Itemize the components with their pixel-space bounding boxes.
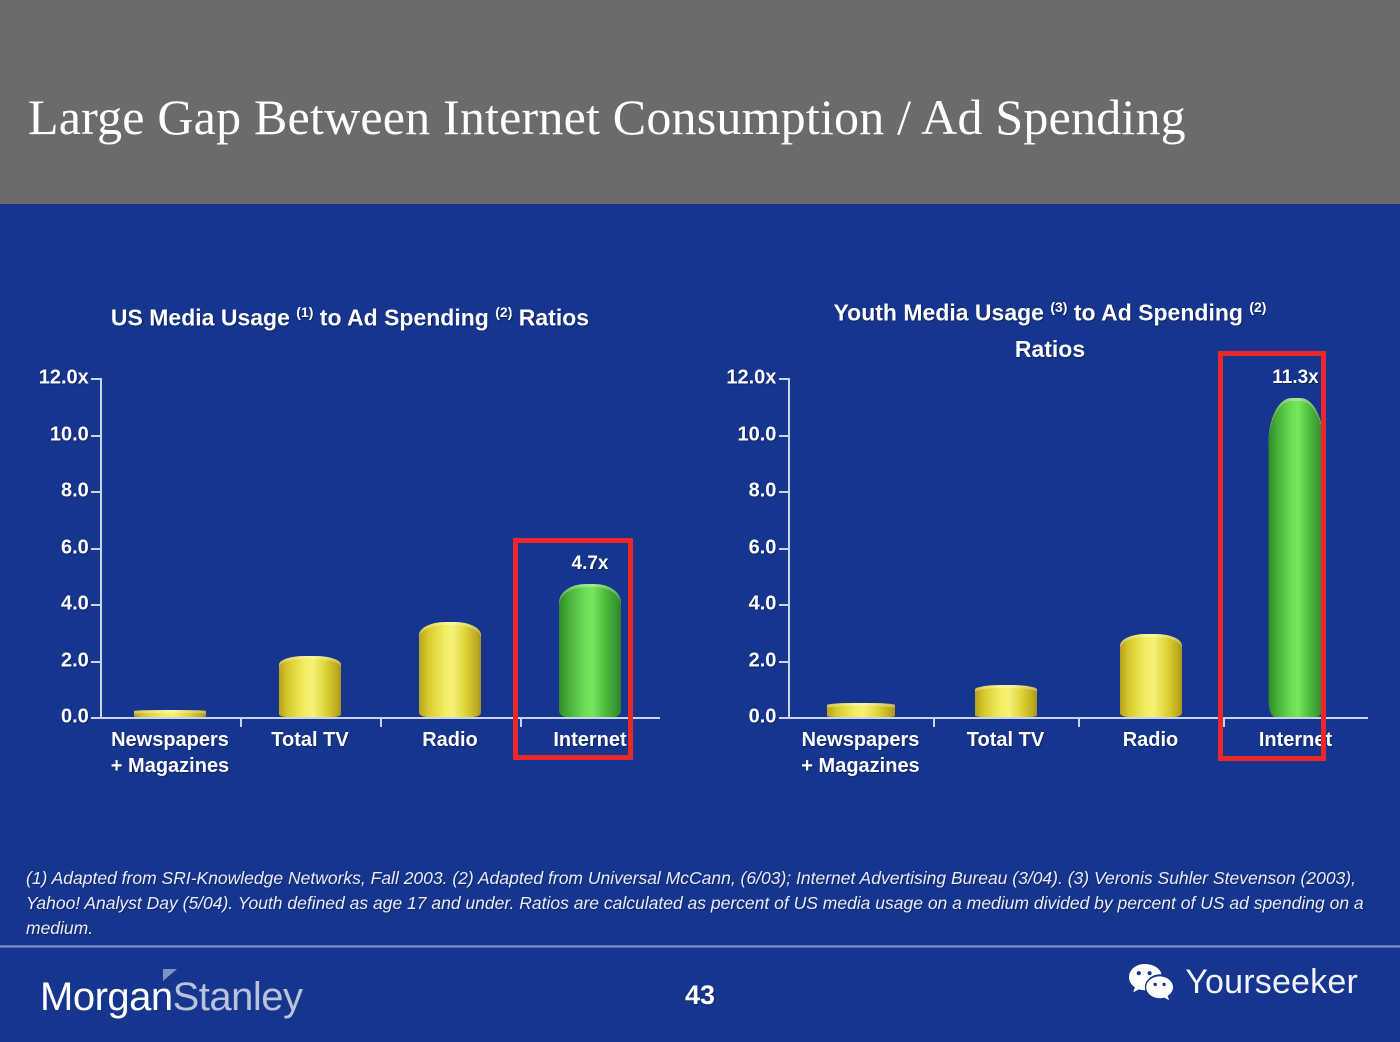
footnote: (1) Adapted from SRI-Knowledge Networks,… (26, 866, 1374, 941)
y-tick-label: 8.0 (61, 480, 89, 503)
bar-group-total-tv[interactable]: Total TV (933, 378, 1078, 717)
bar-total-tv[interactable] (975, 685, 1037, 718)
x-axis-label-line-1: Internet (1259, 727, 1332, 753)
x-tick (240, 717, 242, 727)
x-axis-label-line-1: Total TV (967, 727, 1044, 753)
y-tick (779, 717, 789, 719)
bar-group-radio[interactable]: Radio (1078, 378, 1223, 717)
chart-title-sup-1: (1) (296, 304, 313, 320)
y-tick-label: 6.0 (749, 536, 777, 559)
y-tick-label: 12.0x (726, 367, 776, 390)
x-tick (380, 717, 382, 727)
x-axis-label-internet: Internet (553, 727, 626, 753)
chart-title-sup-1: (3) (1050, 299, 1067, 315)
chart-title-part-2: to Ad Spending (1074, 300, 1243, 326)
bar-newspapers-magazines[interactable] (827, 703, 895, 717)
y-tick-label: 10.0 (50, 423, 89, 446)
y-tick-label: 2.0 (61, 649, 89, 672)
chart-title-us-media-usage: US Media Usage (1) to Ad Spending (2) Ra… (30, 294, 670, 336)
y-tick-label: 6.0 (61, 536, 89, 559)
y-tick-label: 10.0 (737, 423, 776, 446)
bar-internet[interactable] (559, 584, 621, 717)
chart-title-part-1: Youth Media Usage (834, 300, 1044, 326)
y-tick-label: 8.0 (749, 480, 777, 503)
bar-newspapers-magazines[interactable] (134, 710, 206, 717)
bar-group-internet[interactable]: 11.3x Internet (1223, 378, 1368, 717)
x-axis-label-line-2: + Magazines (801, 753, 919, 779)
watermark: Yourseeker (1127, 962, 1358, 1002)
plot-area-us-media-usage: 12.0x 10.0 8.0 6.0 4.0 2.0 0.0 (100, 378, 660, 717)
bar-radio[interactable] (419, 622, 481, 717)
bar-value-internet: 11.3x (1272, 367, 1319, 389)
x-axis-label-line-1: Radio (1123, 727, 1179, 753)
x-axis-label-line-1: Newspapers (111, 727, 229, 753)
x-tick (1223, 717, 1225, 727)
bar-internet[interactable] (1268, 398, 1323, 717)
x-tick (1078, 717, 1080, 727)
x-axis-label-total-tv: Total TV (967, 727, 1044, 753)
y-tick-label: 12.0x (39, 367, 89, 390)
chart-title-sup-2: (2) (1249, 299, 1266, 315)
chart-panel-youth-media-usage: Youth Media Usage (3) to Ad Spending (2)… (700, 204, 1400, 834)
plot-area-youth-media-usage: 12.0x 10.0 8.0 6.0 4.0 2.0 0.0 (788, 378, 1368, 717)
chart-title-part-3: Ratios (519, 305, 589, 331)
bar-group-internet[interactable]: 4.7x Internet (520, 378, 660, 717)
x-axis-label-radio: Radio (422, 727, 478, 753)
bar-radio[interactable] (1120, 634, 1182, 717)
x-axis-label-internet: Internet (1259, 727, 1332, 753)
x-axis-label-line-1: Internet (553, 727, 626, 753)
footer-divider (0, 945, 1400, 948)
x-axis-label-line-2: + Magazines (111, 753, 229, 779)
x-tick (520, 717, 522, 727)
bar-total-tv[interactable] (279, 656, 341, 717)
x-axis-label-newspapers-magazines: Newspapers + Magazines (111, 727, 229, 779)
bar-group-newspapers-magazines[interactable]: Newspapers + Magazines (788, 378, 933, 717)
page-title: Large Gap Between Internet Consumption /… (28, 88, 1378, 146)
x-axis-label-radio: Radio (1123, 727, 1179, 753)
chart-title-part-1: US Media Usage (111, 305, 290, 331)
bar-group-radio[interactable]: Radio (380, 378, 520, 717)
bar-value-internet: 4.7x (572, 553, 609, 575)
x-axis-label-line-1: Newspapers (801, 727, 919, 753)
y-tick-label: 2.0 (749, 649, 777, 672)
x-axis-label-total-tv: Total TV (271, 727, 348, 753)
charts-container: US Media Usage (1) to Ad Spending (2) Ra… (0, 204, 1400, 834)
chart-title-part-2: to Ad Spending (320, 305, 489, 331)
x-tick (933, 717, 935, 727)
y-tick-label: 0.0 (749, 706, 777, 729)
slide: Large Gap Between Internet Consumption /… (0, 0, 1400, 1042)
y-tick-label: 0.0 (61, 706, 89, 729)
watermark-text: Yourseeker (1185, 963, 1358, 1002)
bar-group-newspapers-magazines[interactable]: Newspapers + Magazines (100, 378, 240, 717)
bar-group-total-tv[interactable]: Total TV (240, 378, 380, 717)
y-tick (91, 717, 101, 719)
wechat-icon (1127, 962, 1175, 1002)
chart-title-sup-2: (2) (495, 304, 512, 320)
y-tick-label: 4.0 (61, 593, 89, 616)
x-axis-label-line-1: Radio (422, 727, 478, 753)
chart-panel-us-media-usage: US Media Usage (1) to Ad Spending (2) Ra… (0, 204, 700, 834)
chart-title-part-3: Ratios (1015, 336, 1085, 362)
x-axis-label-newspapers-magazines: Newspapers + Magazines (801, 727, 919, 779)
x-axis-label-line-1: Total TV (271, 727, 348, 753)
chart-title-youth-media-usage: Youth Media Usage (3) to Ad Spending (2)… (730, 289, 1370, 367)
y-tick-label: 4.0 (749, 593, 777, 616)
